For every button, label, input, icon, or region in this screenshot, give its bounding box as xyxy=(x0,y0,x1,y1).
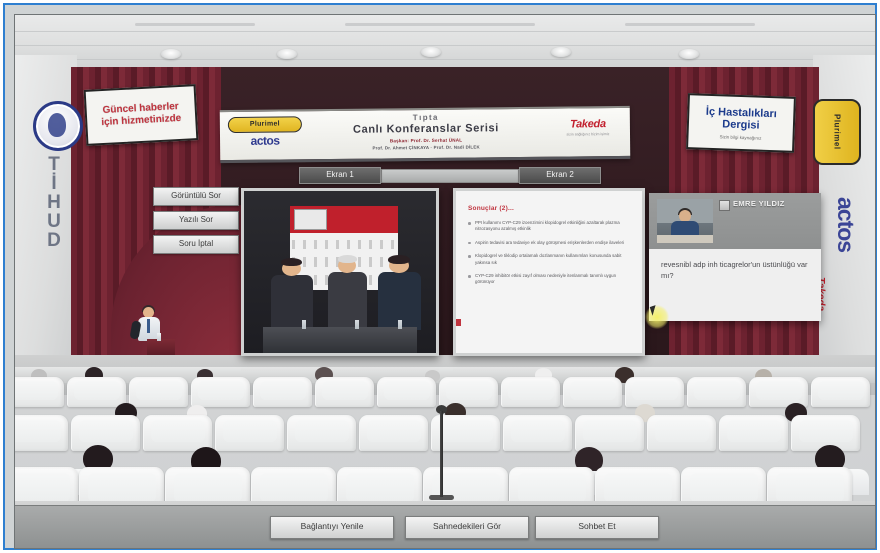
tihud-letter: D xyxy=(39,231,69,250)
tab-ekran-1[interactable]: Ekran 1 xyxy=(299,167,381,184)
questioner-webcam xyxy=(657,199,713,243)
tihud-letter: İ xyxy=(39,174,69,193)
takeda-logo-right: Takeda xyxy=(815,277,855,311)
application-window: T İ H U D Plurimel actos Takeda Gün xyxy=(0,0,880,553)
slide-bullet: PPI kullanımı CYP-C29 izoenzimini klopid… xyxy=(468,220,632,233)
banner-plurimel-pill: Plurimel xyxy=(228,116,302,133)
banner-logo-right: Takeda sizin sağlığınız bizim işimiz xyxy=(552,118,624,137)
banner-takeda-label: Takeda xyxy=(552,118,624,131)
ceiling-light xyxy=(277,49,297,59)
slide-marker xyxy=(456,319,461,326)
tihud-letter: U xyxy=(39,212,69,231)
video-screen[interactable] xyxy=(241,188,439,356)
question-message-box: revesnibl adp inh ticagrelor'un üstünlüğ… xyxy=(649,249,821,321)
cursor-highlight xyxy=(645,305,669,329)
slide-bullet: Klopidogrel ve tiklodip ortalamalı dozla… xyxy=(468,253,632,266)
ask-video-button[interactable]: Görüntülü Sor xyxy=(153,187,239,206)
ceiling-light xyxy=(161,49,181,59)
panelist xyxy=(271,275,313,330)
refresh-connection-button[interactable]: Bağlantıyı Yenile xyxy=(270,516,394,539)
cancel-question-button[interactable]: Soru İptal xyxy=(153,235,239,254)
questioner-name: EMRE YILDIZ xyxy=(733,199,785,208)
question-message-text: revesnibl adp inh ticagrelor'un üstünlüğ… xyxy=(661,259,809,281)
sign-right-line2: Dergisi xyxy=(722,118,760,131)
question-popup-header: EMRE YILDIZ xyxy=(649,193,821,249)
slide-screen[interactable]: Sonuçlar (2)... PPI kullanımı CYP-C29 iz… xyxy=(453,188,645,356)
window-content: T İ H U D Plurimel actos Takeda Gün xyxy=(14,14,876,549)
banner-actos-label: actos xyxy=(228,133,302,148)
ceiling xyxy=(15,15,875,71)
panelist xyxy=(328,272,366,330)
microphone-base xyxy=(429,495,454,500)
tihud-letter: H xyxy=(39,193,69,212)
conference-banner: Plurimel actos Tıpta Canlı Konferanslar … xyxy=(220,106,631,163)
sign-right-subtitle: Sizin bilgi kaynağınız xyxy=(719,134,761,140)
slide-bullet: CYP-C29 inhibitör etkisi zayıf olması ne… xyxy=(468,273,632,286)
tab-ekran-2[interactable]: Ekran 2 xyxy=(519,167,601,184)
tab-spacer xyxy=(381,169,519,183)
question-popup[interactable]: EMRE YILDIZ revesnibl adp inh ticagrelor… xyxy=(649,193,821,321)
tihud-letter: T xyxy=(39,155,69,174)
plurimel-logo-right: Plurimel xyxy=(813,99,857,161)
tihud-vertical-label: T İ H U D xyxy=(39,155,69,250)
stage-speaker-avatar xyxy=(133,307,167,357)
tihud-logo-icon xyxy=(33,101,83,151)
slide-bullet: Aspirin tedavisi ara tedaviye ek olay gö… xyxy=(468,240,632,246)
banner-logo-left: Plurimel actos xyxy=(228,116,302,148)
slide-content: Sonuçlar (2)... PPI kullanımı CYP-C29 iz… xyxy=(456,191,642,353)
bottom-toolbar: Bağlantıyı Yenile Sahnedekileri Gör Sohb… xyxy=(15,505,875,548)
plurimel-label: Plurimel xyxy=(833,114,842,150)
ask-text-button[interactable]: Yazılı Sor xyxy=(153,211,239,230)
question-controls: Görüntülü Sor Yazılı Sor Soru İptal xyxy=(153,187,237,259)
ceiling-light xyxy=(551,47,571,57)
microphone-stand xyxy=(440,411,443,497)
ceiling-light xyxy=(421,47,441,57)
virtual-conference-hall: T İ H U D Plurimel actos Takeda Gün xyxy=(15,15,875,548)
sign-right: İç Hastalıkları Dergisi Sizin bilgi kayn… xyxy=(686,93,796,153)
banner-line2: Canlı Konferanslar Serisi xyxy=(308,122,544,136)
sign-left: Güncel haberler için hizmetinizde xyxy=(84,84,199,146)
ceiling-light xyxy=(679,49,699,59)
banner-text: Tıpta Canlı Konferanslar Serisi Başkan: … xyxy=(308,112,544,151)
video-feed xyxy=(244,191,436,353)
slide-heading: Sonuçlar (2)... xyxy=(468,205,632,212)
banner-line4: Prof. Dr. Ahmet ÇİNKAYA · Prof. Dr. Nadi… xyxy=(308,143,544,150)
chat-button[interactable]: Sohbet Et xyxy=(535,516,659,539)
banner-takeda-subtitle: sizin sağlığınız bizim işimiz xyxy=(552,132,624,137)
video-camera-icon xyxy=(719,200,730,211)
screen-tabs: Ekran 1 Ekran 2 xyxy=(299,167,599,183)
view-stage-button[interactable]: Sahnedekileri Gör xyxy=(405,516,529,539)
window-frame: T İ H U D Plurimel actos Takeda Gün xyxy=(3,3,877,550)
